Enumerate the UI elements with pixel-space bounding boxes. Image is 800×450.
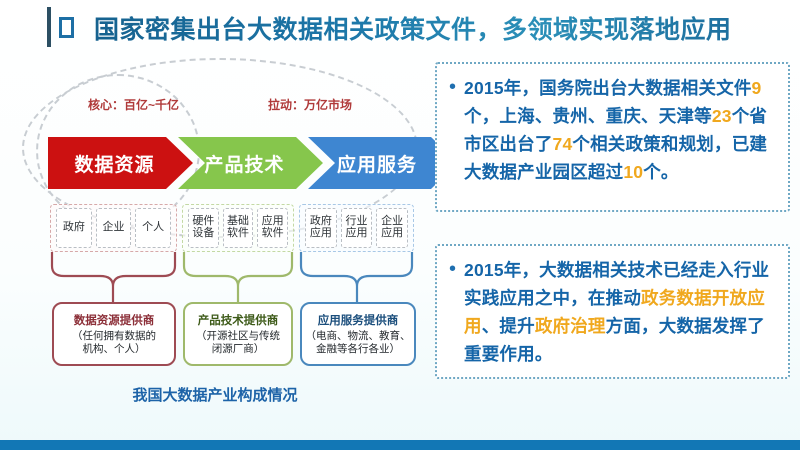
- category-cell[interactable]: 基础 软件: [223, 208, 254, 248]
- category-cell[interactable]: 行业 应用: [341, 208, 373, 248]
- provider-sub-line2: 金融等各行各业）: [316, 343, 400, 356]
- bullet-icon: •: [449, 74, 456, 100]
- cell-line2: 设备: [192, 228, 214, 240]
- value-chain-arrows: 数据资源 产品技术 应用服务: [48, 137, 396, 189]
- text-panel-application: • 2015年，大数据相关技术已经走入行业实践应用之中，在推动政务数据开放应用、…: [435, 244, 790, 379]
- category-group-data: 政府 企业 个人: [50, 204, 177, 252]
- provider-sub-line2: 闭源厂商）: [212, 343, 265, 356]
- annotation-core: 核心：百亿~千亿: [88, 96, 179, 113]
- highlight-text: 政府治理: [535, 316, 606, 336]
- category-cell[interactable]: 企业: [96, 208, 132, 248]
- provider-box-service[interactable]: 应用服务提供商 （电商、物流、教育、 金融等各行各业）: [300, 302, 416, 366]
- category-group-product: 硬件 设备 基础 软件 应用 软件: [182, 204, 294, 252]
- panel-application-text: 2015年，大数据相关技术已经走入行业实践应用之中，在推动政务数据开放应用、提升…: [464, 256, 778, 368]
- cell-line2: 应用: [310, 228, 332, 240]
- provider-box-data[interactable]: 数据资源提供商 （任何拥有数据的 机构、个人）: [52, 302, 176, 366]
- brace-connector-data: [50, 252, 177, 302]
- provider-title: 应用服务提供商: [318, 312, 399, 328]
- category-cell[interactable]: 个人: [135, 208, 171, 248]
- category-cell[interactable]: 企业 应用: [376, 208, 408, 248]
- slide-canvas: 国家密集出台大数据相关政策文件，多领域实现落地应用 核心：百亿~千亿 拉动：万亿…: [0, 0, 800, 450]
- page-title: 国家密集出台大数据相关政策文件，多领域实现落地应用: [94, 10, 732, 46]
- cell-line2: 软件: [227, 228, 249, 240]
- chevron-label-product: 产品技术: [204, 150, 284, 177]
- provider-title: 数据资源提供商: [74, 312, 155, 328]
- text-panel-policy: • 2015年，国务院出台大数据相关文件9个，上海、贵州、重庆、天津等23个省市…: [435, 62, 790, 212]
- brace-connector-product: [182, 252, 294, 302]
- cell-line2: 应用: [381, 228, 403, 240]
- highlight-text: 74: [553, 134, 573, 154]
- highlight-text: 10: [623, 162, 643, 182]
- diagram-caption: 我国大数据产业构成情况: [0, 384, 430, 405]
- provider-box-product[interactable]: 产品技术提供商 （开源社区与传统 闭源厂商）: [183, 302, 293, 366]
- highlight-text: 23: [712, 106, 732, 126]
- panel-policy-text: 2015年，国务院出台大数据相关文件9个，上海、贵州、重庆、天津等23个省市区出…: [464, 74, 778, 186]
- body-text: 个。: [643, 162, 678, 182]
- body-text: 2015年，国务院出台大数据相关文件: [464, 78, 752, 98]
- cell-line1: 政府: [63, 222, 85, 234]
- category-cell[interactable]: 政府: [56, 208, 92, 248]
- brace-connector-service: [299, 252, 414, 302]
- chevron-data-resource[interactable]: 数据资源: [48, 137, 193, 189]
- highlight-text: 9: [752, 78, 762, 98]
- provider-title: 产品技术提供商: [198, 312, 279, 328]
- category-cell[interactable]: 应用 软件: [257, 208, 288, 248]
- header-accent-bar: [47, 7, 51, 47]
- provider-sub-line1: （电商、物流、教育、: [306, 330, 411, 343]
- provider-sub-line1: （任何拥有数据的: [72, 330, 156, 343]
- category-group-service: 政府 应用 行业 应用 企业 应用: [299, 204, 414, 252]
- provider-sub-line1: （开源社区与传统: [196, 330, 280, 343]
- category-cell[interactable]: 政府 应用: [305, 208, 337, 248]
- category-cell[interactable]: 硬件 设备: [188, 208, 219, 248]
- chevron-product-technology[interactable]: 产品技术: [178, 137, 323, 189]
- industry-structure-diagram: 核心：百亿~千亿 拉动：万亿市场 数据资源 产品技术 应用服务 政府 企业 个人: [0, 52, 430, 432]
- square-outline-icon: [59, 17, 74, 38]
- cell-line2: 应用: [346, 228, 368, 240]
- chevron-label-service: 应用服务: [337, 150, 417, 177]
- body-text: 、提升: [482, 316, 535, 336]
- provider-sub-line2: 机构、个人）: [83, 343, 146, 356]
- cell-line2: 软件: [262, 228, 284, 240]
- annotation-pull: 拉动：万亿市场: [268, 96, 352, 113]
- cell-line1: 企业: [103, 222, 125, 234]
- chevron-label-data: 数据资源: [74, 150, 154, 177]
- cell-line1: 个人: [142, 222, 164, 234]
- footer-accent-bar: [0, 440, 800, 450]
- slide-header: 国家密集出台大数据相关政策文件，多领域实现落地应用: [0, 0, 800, 55]
- bullet-icon: •: [449, 256, 456, 282]
- body-text: 个，上海、贵州、重庆、天津等: [464, 106, 712, 126]
